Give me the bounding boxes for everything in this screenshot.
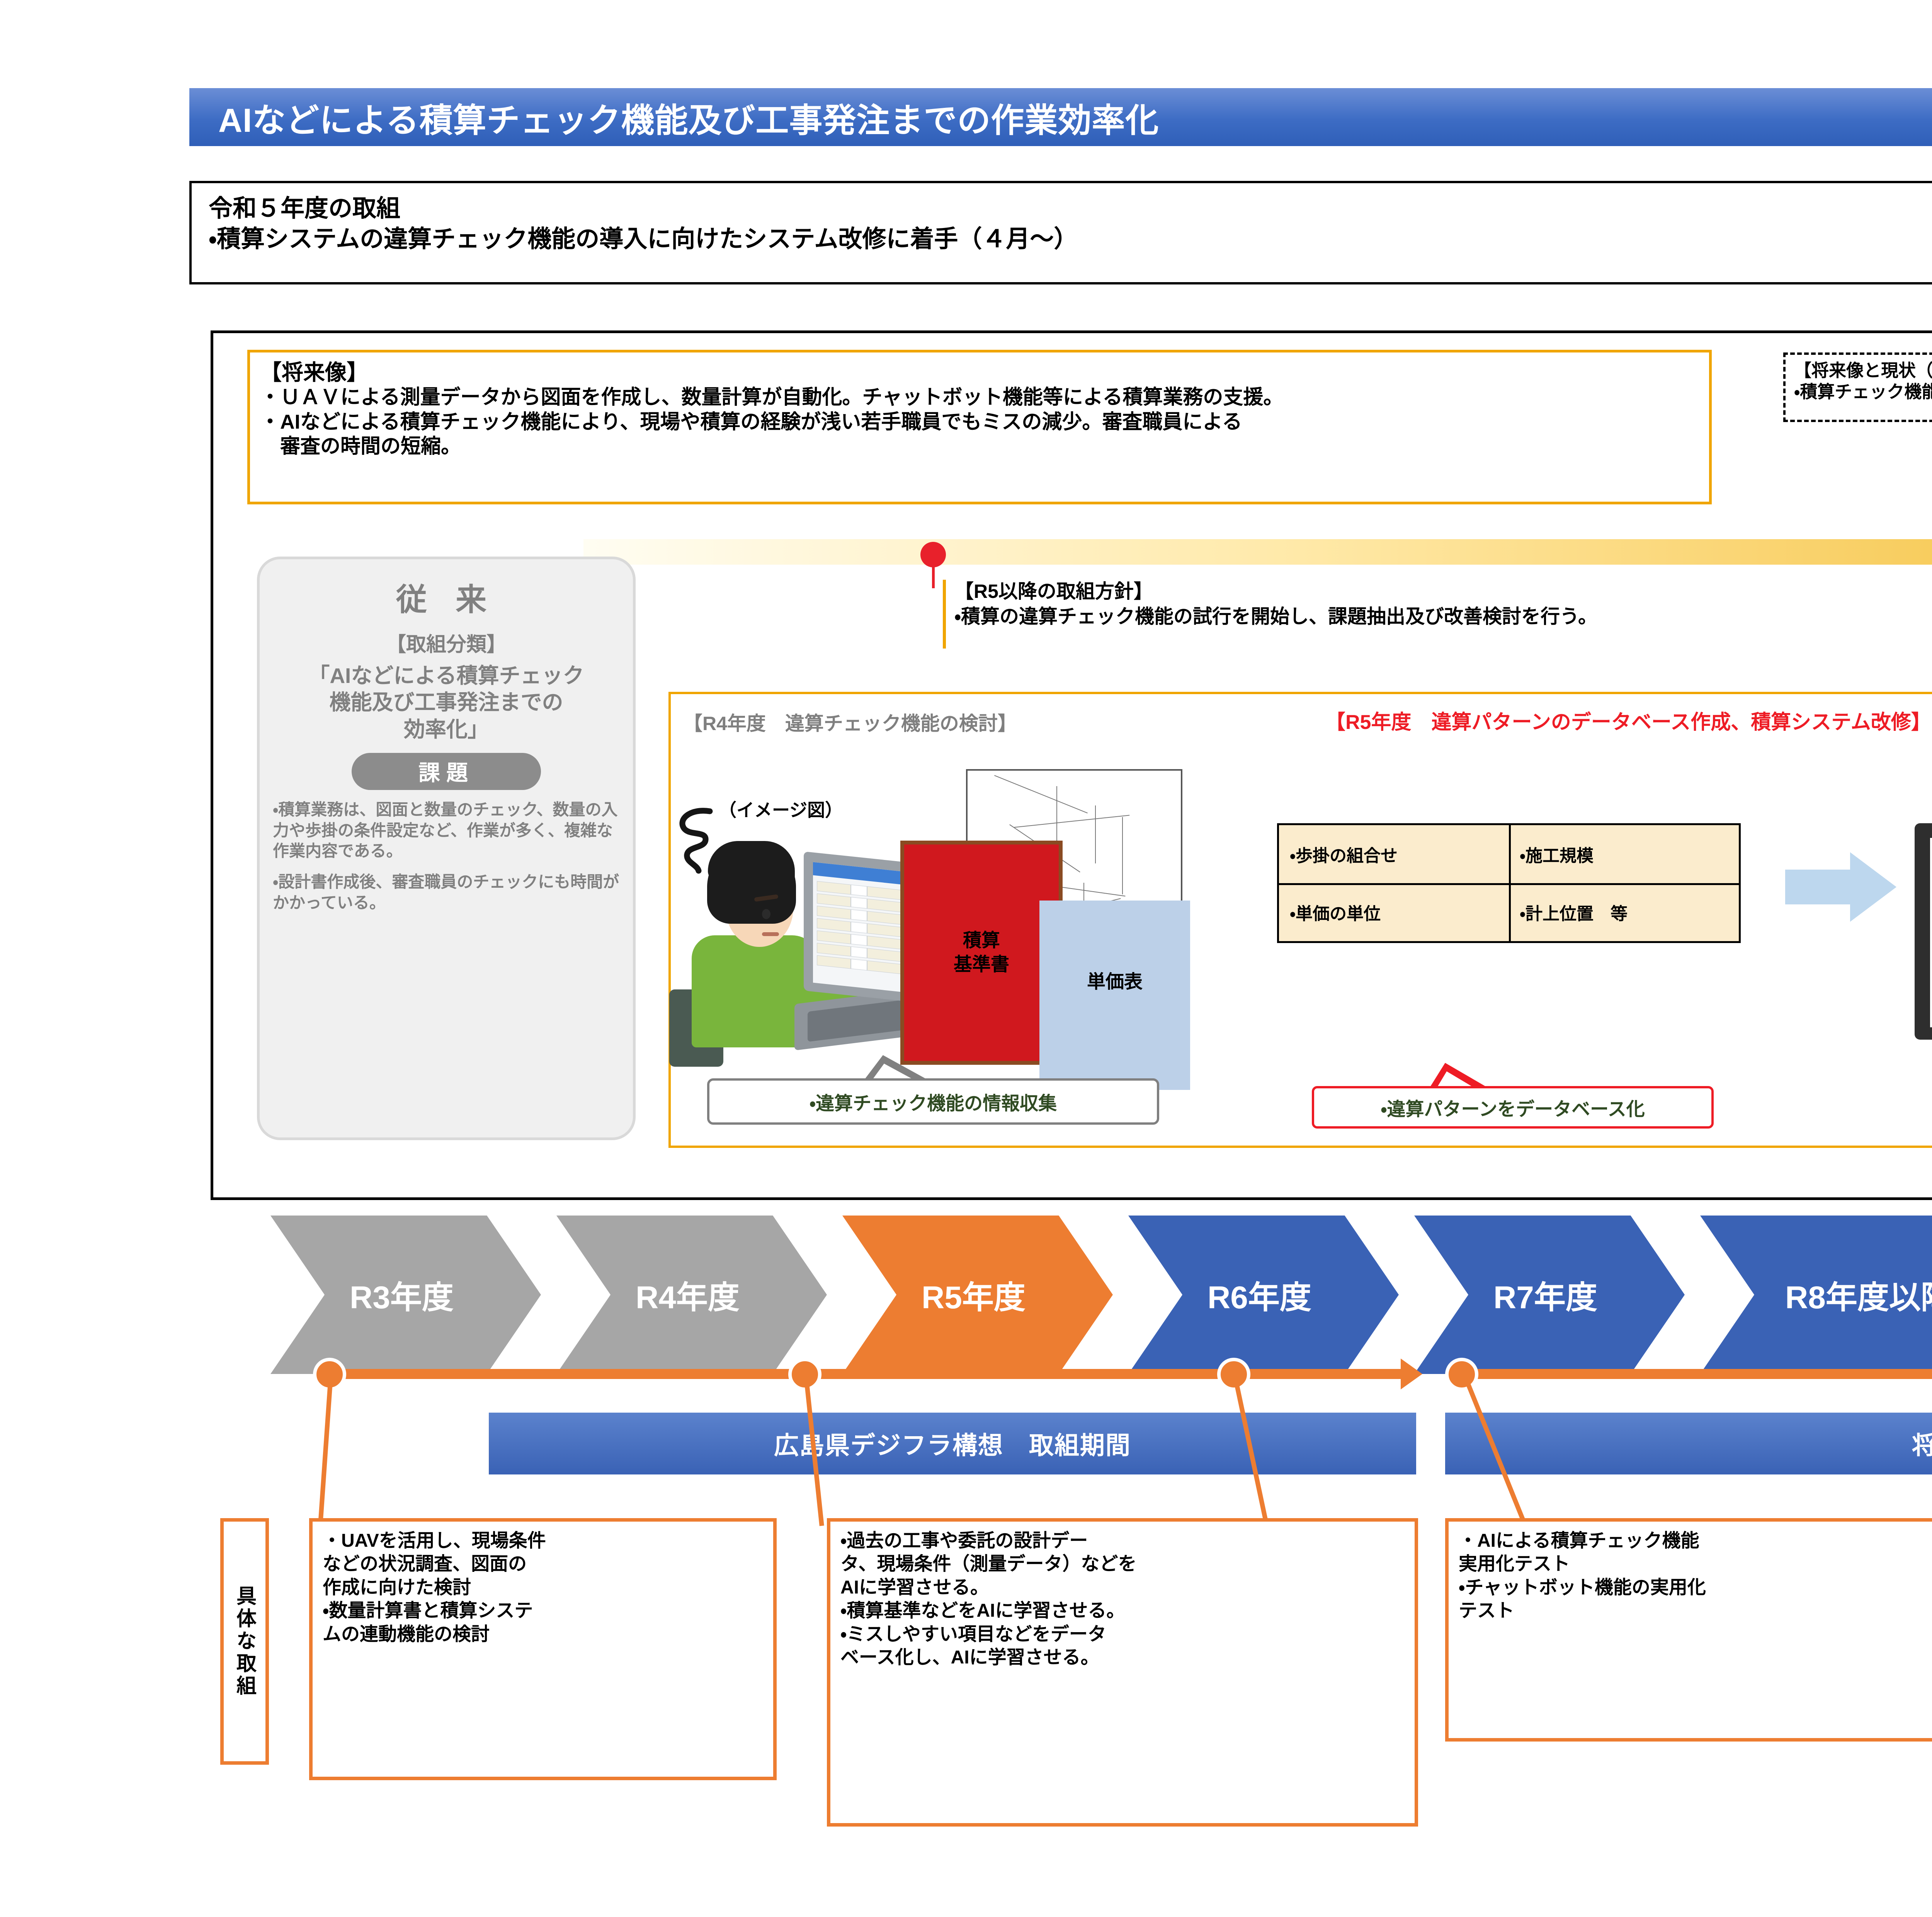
legacy-category-line-2: 機能及び工事発注までの: [273, 689, 620, 716]
r5-work-item: ・積算システムの違算チェック機能の導入に向けたシステム改修に着手（４月～）: [209, 224, 1932, 254]
unit-price-table-book: 単価表: [1039, 901, 1190, 1090]
page-title: AIなどによる積算チェック機能及び工事発注までの作業効率化: [218, 93, 1159, 141]
book-red-line-2: 基準書: [954, 954, 1009, 975]
timeline-band-plan-period-label: 広島県デジフラ構想 取組期間: [774, 1426, 1131, 1461]
timeline-label-r3: R3年度: [350, 1272, 454, 1318]
gap-item: ・積算チェック機能の導入: [1794, 381, 1932, 403]
timeline-marker-stem: [932, 565, 935, 588]
legacy-panel: 従 来 【取組分類】 「AIなどによる積算チェック 機能及び工事発注までの 効率…: [257, 557, 636, 1140]
grid-cell-2: ・施工規模: [1509, 825, 1739, 883]
bottom-box-3-line-1: ・AIによる積算チェック機能: [1459, 1529, 1926, 1553]
timeline-label-r4: R4年度: [636, 1272, 740, 1318]
callout-database-label: ・違算パターンをデータベース化: [1381, 1094, 1645, 1121]
timeline-node-r6: [1217, 1358, 1250, 1391]
book-blue-label: 単価表: [1087, 966, 1143, 993]
timeline-node-r7: [1445, 1358, 1478, 1391]
bottom-box-2-line-3: AIに学習させる。: [840, 1576, 1405, 1599]
bottom-box-3: ・AIによる積算チェック機能 実用化テスト ・チャットボット機能の実用化 テスト: [1445, 1518, 1932, 1742]
policy-accent-bar: [943, 580, 946, 649]
legacy-category-label: 【取組分類】: [273, 628, 620, 657]
bottom-box-1-line-3: 作成に向けた検討: [323, 1576, 763, 1599]
policy-title: 【R5以降の取組方針】: [954, 579, 1932, 604]
bottom-box-1-line-4: ・数量計算書と積算システ: [323, 1599, 763, 1622]
timeline-band-future-plan: 将来計画: [1445, 1413, 1932, 1474]
future-vision-line-1: ・ＵＡＶによる測量データから図面を作成し、数量計算が自動化。チャットボット機能等…: [260, 385, 1699, 410]
legacy-title: 従 来: [273, 575, 620, 620]
timeline-band-plan-period: 広島県デジフラ構想 取組期間: [489, 1413, 1416, 1474]
bottom-box-2-line-5: ・ミスしやすい項目などをデータ: [840, 1623, 1405, 1646]
r5-work-box: 令和５年度の取組 ・積算システムの違算チェック機能の導入に向けたシステム改修に着…: [189, 181, 1932, 284]
connector-1: [318, 1376, 333, 1531]
person-hair-front: [708, 841, 795, 882]
callout-info-collection: ・違算チェック機能の情報収集: [707, 1078, 1159, 1125]
future-vision-box: 【将来像】 ・ＵＡＶによる測量データから図面を作成し、数量計算が自動化。チャット…: [247, 350, 1712, 504]
bottom-box-3-line-3: ・チャットボット機能の実用化: [1459, 1576, 1926, 1599]
grid-cell-1: ・歩掛の組合せ: [1279, 825, 1509, 883]
grid-cell-4: ・計上位置 等: [1509, 883, 1739, 941]
bottom-box-1-line-2: などの状況調査、図面の: [323, 1553, 763, 1576]
image-caption: （イメージ図）: [719, 796, 843, 822]
check-items-grid: ・歩掛の組合せ ・施工規模 ・単価の単位 ・計上位置 等: [1277, 823, 1741, 943]
monitor-screen: 費目・工種・施工名称など 数量 単位 掘削 土砂 オープンカット 押土無し 障害…: [1930, 838, 1932, 1027]
progress-track-left-head: [1401, 1359, 1422, 1389]
r5-work-heading: 令和５年度の取組: [209, 193, 1932, 224]
callout-info-collection-label: ・違算チェック機能の情報収集: [810, 1088, 1057, 1115]
timeline-band-future-plan-label: 将来計画: [1912, 1426, 1932, 1461]
title-bar: AIなどによる積算チェック機能及び工事発注までの作業効率化 ⑥-08: [189, 88, 1932, 146]
estimation-standard-book: 積算 基準書: [900, 841, 1063, 1065]
future-vision-title: 【将来像】: [260, 359, 1699, 385]
policy-item: ・積算の違算チェック機能の試行を開始し、課題抽出及び改善検討を行う。: [954, 604, 1932, 629]
timeline-label-r5: R5年度: [922, 1272, 1026, 1318]
timeline-label-r6: R6年度: [1207, 1272, 1311, 1318]
timeline-marker-dot: [920, 542, 946, 567]
bottom-side-label-text: 具体な取組: [230, 1585, 259, 1697]
person-mouth: [762, 932, 779, 936]
bottom-box-2-line-6: ベース化し、AIに学習させる。: [840, 1646, 1405, 1669]
bottom-box-2: ・過去の工事や委託の設計デー タ、現場条件（測量データ）などを AIに学習させる…: [827, 1518, 1418, 1827]
bottom-box-1: ・UAVを活用し、現場条件 などの状況調査、図面の 作成に向けた検討 ・数量計算…: [309, 1518, 777, 1780]
monitor-bezel: [1915, 823, 1932, 1040]
policy-block: 【R5以降の取組方針】 ・積算の違算チェック機能の試行を開始し、課題抽出及び改善…: [954, 579, 1932, 629]
bottom-box-1-line-5: ムの連動機能の検討: [323, 1623, 763, 1646]
bottom-box-2-line-1: ・過去の工事や委託の設計デー: [840, 1529, 1405, 1553]
grid-cell-3: ・単価の単位: [1279, 883, 1509, 941]
callout-database: ・違算パターンをデータベース化: [1312, 1086, 1714, 1129]
person-eye: [762, 909, 770, 919]
flow-arrow-body: [1785, 870, 1851, 904]
gap-title: 【将来像と現状（R4）とのギャップを踏まえた課題】: [1794, 360, 1932, 381]
bottom-box-3-line-2: 実用化テスト: [1459, 1553, 1926, 1576]
gap-challenge-box: 【将来像と現状（R4）とのギャップを踏まえた課題】 ・積算チェック機能の導入: [1783, 352, 1932, 422]
legacy-body-2: ・設計書作成後、審査職員のチェックにも時間がかかっている。: [273, 872, 620, 913]
legacy-category-line-1: 「AIなどによる積算チェック: [273, 662, 620, 689]
r5-heading: 【R5年度 違算パターンのデータベース作成、積算システム改修】: [1325, 706, 1931, 735]
future-vision-line-2: ・AIなどによる積算チェック機能により、現場や積算の経験が浅い若手職員でもミスの…: [260, 410, 1699, 434]
flow-arrow-head: [1850, 852, 1896, 922]
legacy-category-line-3: 効率化」: [273, 716, 620, 743]
progress-track-right: [1457, 1369, 1932, 1379]
timeline-label-r7: R7年度: [1493, 1272, 1597, 1318]
bottom-box-1-line-1: ・UAVを活用し、現場条件: [323, 1529, 763, 1553]
legacy-issue-pill: 課題: [352, 753, 541, 790]
bottom-side-label: 具体な取組: [220, 1518, 269, 1765]
future-gradient-arrow: [583, 539, 1932, 565]
bottom-box-3-line-4: テスト: [1459, 1599, 1926, 1622]
bottom-box-2-line-2: タ、現場条件（測量データ）などを: [840, 1553, 1405, 1576]
r4-heading: 【R4年度 違算チェック機能の検討】: [683, 708, 1017, 736]
bottom-box-2-line-4: ・積算基準などをAIに学習させる。: [840, 1599, 1405, 1622]
legacy-body-1: ・積算業務は、図面と数量のチェック、数量の入力や歩掛の条件設定など、作業が多く、…: [273, 799, 620, 861]
future-vision-line-3: 審査の時間の短縮。: [260, 434, 1699, 459]
book-red-line-1: 積算: [963, 930, 1000, 951]
timeline-label-r8: R8年度以降: [1785, 1272, 1932, 1318]
